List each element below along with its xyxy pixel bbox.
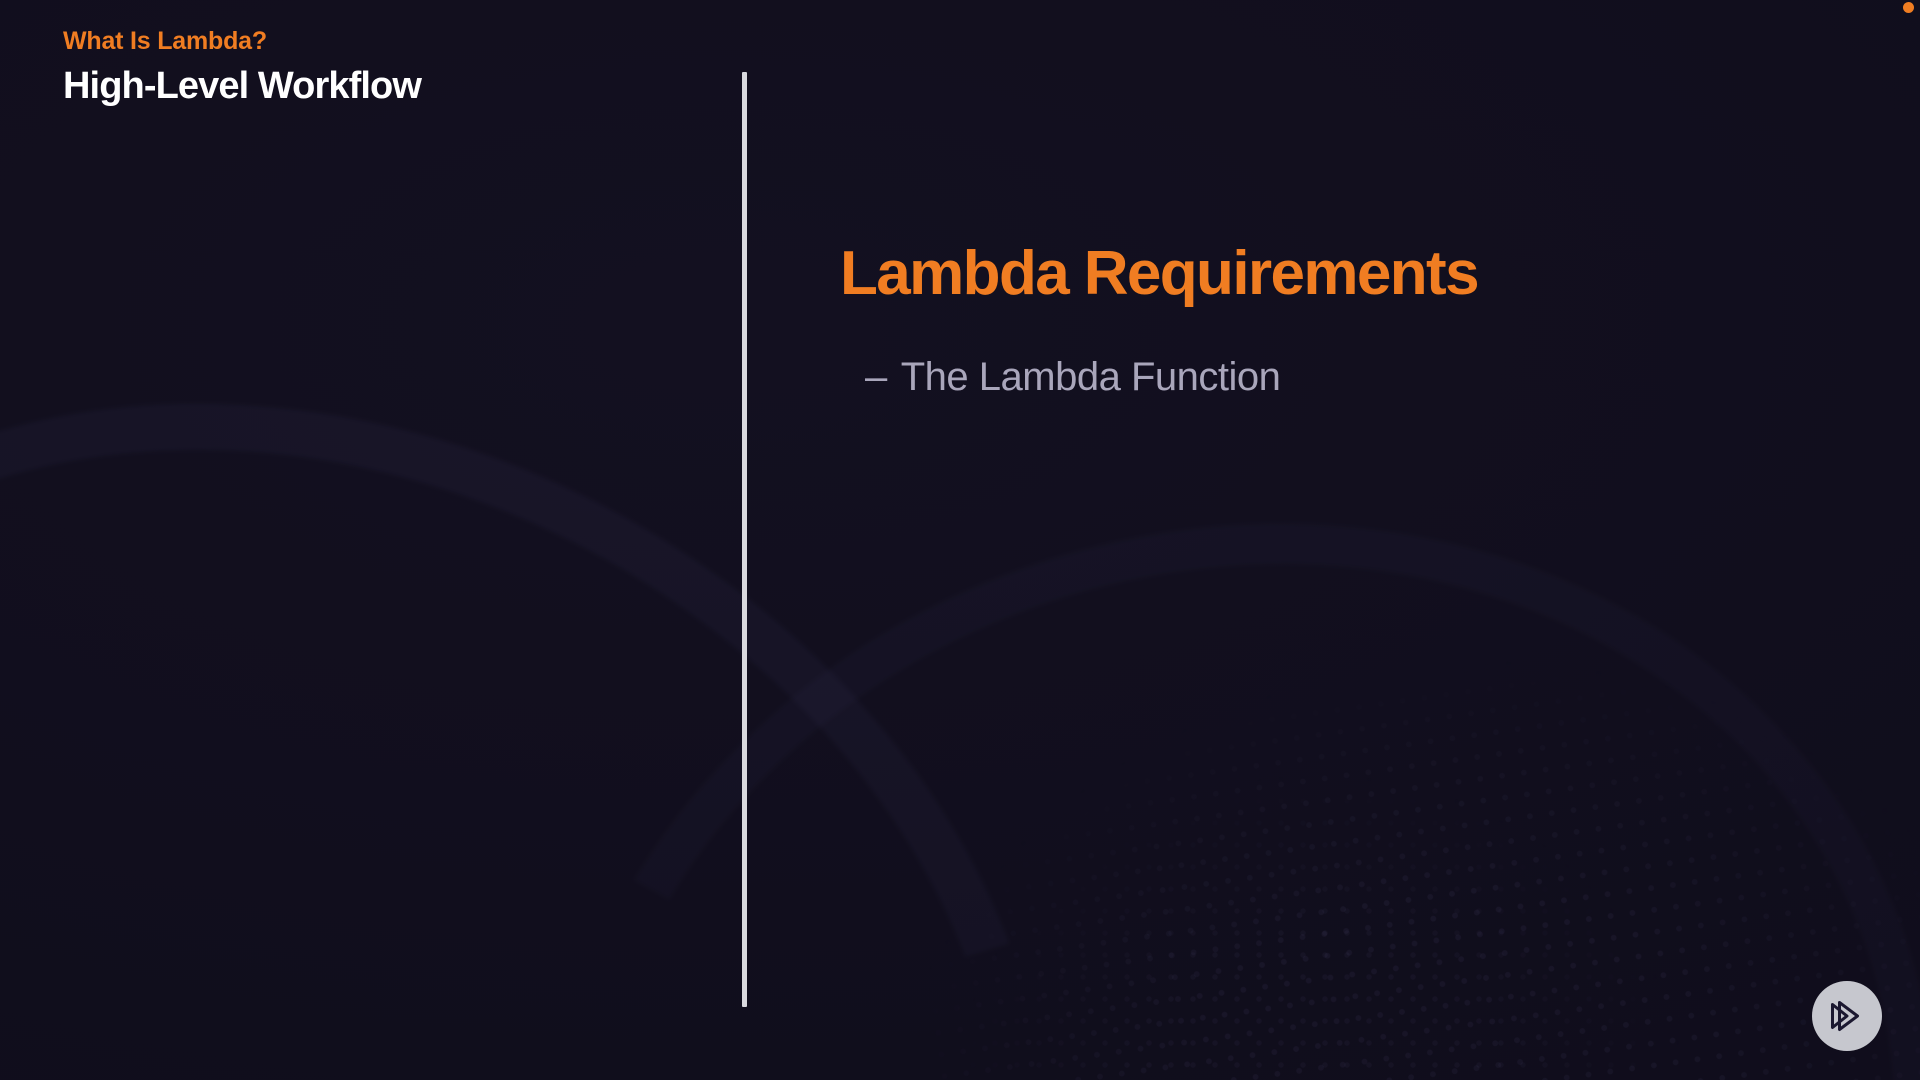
background-dot-pattern (859, 384, 1920, 1080)
background-swoosh-right (395, 361, 1920, 1080)
header-eyebrow: What Is Lambda? (63, 26, 683, 56)
slide-header: What Is Lambda? High-Level Workflow (63, 26, 683, 108)
progress-indicator-dot (1903, 2, 1914, 13)
header-section-title: High-Level Workflow (63, 65, 683, 108)
background-decoration (0, 0, 1920, 1080)
bullet-label: The Lambda Function (901, 350, 1281, 404)
slide-root: What Is Lambda? High-Level Workflow Lamb… (0, 0, 1920, 1080)
bullet-dash-icon: – (865, 350, 887, 404)
background-vignette (0, 0, 1920, 1080)
background-dot-pattern-secondary (940, 680, 1700, 1080)
content-title: Lambda Requirements (840, 240, 1840, 308)
play-next-button[interactable] (1812, 981, 1882, 1051)
list-item: – The Lambda Function (865, 350, 1840, 404)
double-play-icon (1827, 997, 1867, 1035)
slide-content: Lambda Requirements – The Lambda Functio… (840, 240, 1840, 404)
vertical-divider (742, 72, 747, 1007)
content-bullet-list: – The Lambda Function (840, 350, 1840, 404)
